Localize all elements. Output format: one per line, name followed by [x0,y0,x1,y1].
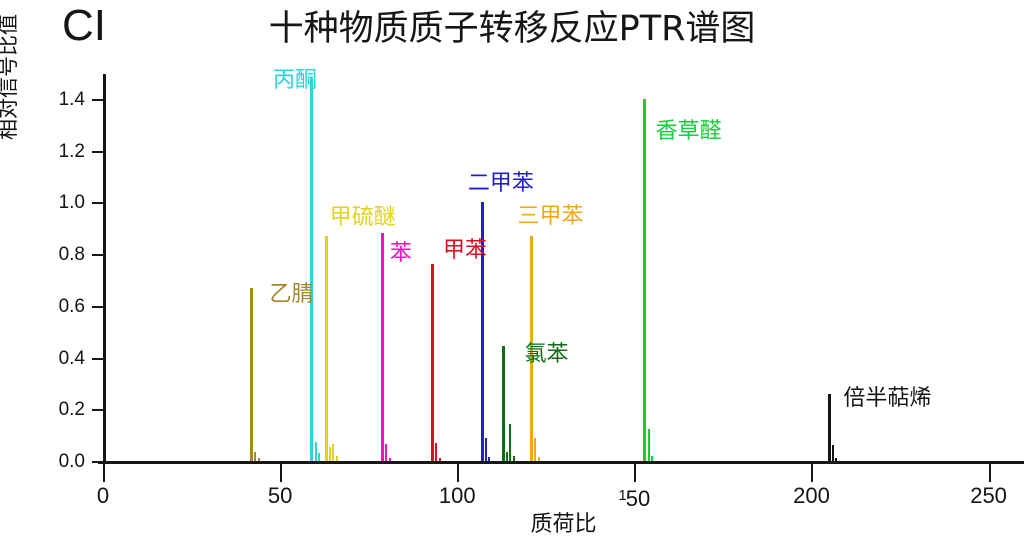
series-label: 香草醛 [656,120,722,144]
y-tick-label: 0.6 [35,297,85,316]
peak-bar [336,456,338,461]
peak-bar [835,458,837,461]
x-axis-label: 质荷比 [103,512,1024,538]
x-tick-mark [634,464,636,482]
y-tick-mark [92,358,103,360]
peak-bar [332,444,334,461]
y-tick-label: 1.2 [35,142,85,161]
peak-bar [385,444,387,461]
y-tick-mark [92,409,103,411]
x-tick-label: 100 [439,484,476,508]
peak-bar [325,236,328,461]
x-tick-label: 250 [970,484,1007,508]
peak-bar [534,438,536,461]
peak-bar [254,452,256,461]
y-tick-mark [92,151,103,153]
series-label: 二甲苯 [468,172,534,196]
peak-bar [509,424,511,462]
y-axis-line [103,74,106,462]
x-tick-label: 150 [618,484,650,511]
x-tick-mark [811,464,813,482]
y-tick-label: 0.2 [35,400,85,419]
series-label: 倍半萜烯 [843,387,931,411]
x-tick-mark [989,464,991,482]
peak-bar [439,458,441,461]
series-label: 甲苯 [443,239,487,263]
y-tick-mark [92,306,103,308]
peak-bar [502,346,505,461]
y-tick-mark [92,99,103,101]
peak-bar [832,445,834,461]
peak-bar [648,429,650,461]
peak-bar [431,264,434,461]
x-tick-mark [103,464,105,482]
series-label: 丙酮 [273,69,317,93]
peak-bar [389,458,391,461]
peak-bar [435,443,437,461]
series-label: 氯苯 [525,343,569,367]
peak-bar [538,457,540,461]
peak-bar [651,456,653,461]
chart-canvas: CI 十种物质质子转移反应PTR谱图 0.00.20.40.60.81.01.2… [0,0,1024,536]
series-label: 三甲苯 [517,205,583,229]
y-tick-mark [92,461,103,463]
peak-bar [485,438,487,461]
peak-bar [643,99,646,461]
y-tick-mark [92,202,103,204]
y-tick-mark [92,254,103,256]
x-axis-line [98,461,1024,464]
peak-bar [250,288,253,461]
peak-bar [318,453,320,461]
x-tick-label: 50 [268,484,292,508]
x-tick-mark [280,464,282,482]
plot-area: 0.00.20.40.60.81.01.21.4 050100150200250… [103,74,1024,462]
page-title: 十种物质质子转移反应PTR谱图 [0,8,1024,50]
y-tick-label: 0.4 [35,349,85,368]
peak-bar [329,447,331,461]
y-tick-label: 0.0 [35,452,85,471]
peak-bar [381,233,384,461]
peak-bar [506,452,508,461]
series-label: 苯 [390,242,412,266]
peak-bar [258,458,260,461]
x-tick-label: 0 [97,484,109,508]
peak-bar [315,442,317,461]
y-tick-label: 1.4 [35,90,85,109]
peak-bar [310,78,313,461]
series-label: 乙腈 [269,283,313,307]
x-tick-label: 200 [793,484,830,508]
y-axis-label: 相对信号比值 [0,0,20,140]
y-tick-label: 1.0 [35,193,85,212]
peak-bar [828,394,831,461]
peak-bar [513,456,515,461]
x-tick-mark [457,464,459,482]
series-label: 甲硫醚 [330,206,396,230]
peak-bar [488,457,490,461]
y-tick-label: 0.8 [35,245,85,264]
